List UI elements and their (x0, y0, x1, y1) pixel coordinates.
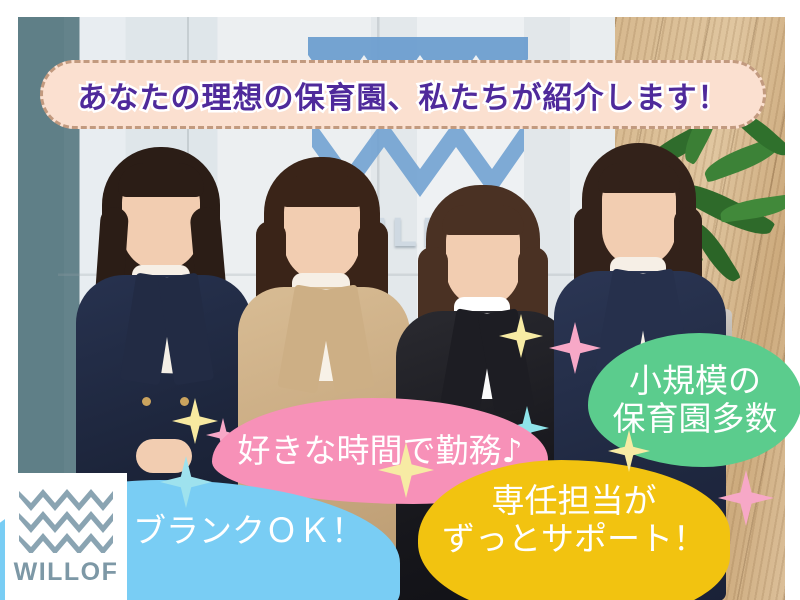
bubble-line: 好きな時間で勤務♪ (237, 432, 522, 470)
bubble-line: 専任担当が (492, 482, 657, 520)
bubble-line: ずっとサポート！ (442, 520, 706, 558)
bubble-line: 保育園多数 (613, 400, 778, 438)
headline-text: あなたの理想の保育園、私たちが紹介します！ (78, 73, 729, 117)
willof-zigzag-icon (19, 487, 113, 553)
bubble-small-nursery[interactable]: 小規模の 保育園多数 (588, 333, 800, 467)
willof-logo-text: WILLOF (14, 558, 119, 587)
bubble-line: ブランクＯＫ！ (133, 512, 364, 550)
bubble-line: 小規模の (629, 362, 761, 400)
headline-banner: あなたの理想の保育園、私たちが紹介します！ (40, 60, 766, 129)
poster-canvas: WILLOF (0, 0, 800, 600)
willof-logo-badge[interactable]: WILLOF (5, 473, 127, 600)
